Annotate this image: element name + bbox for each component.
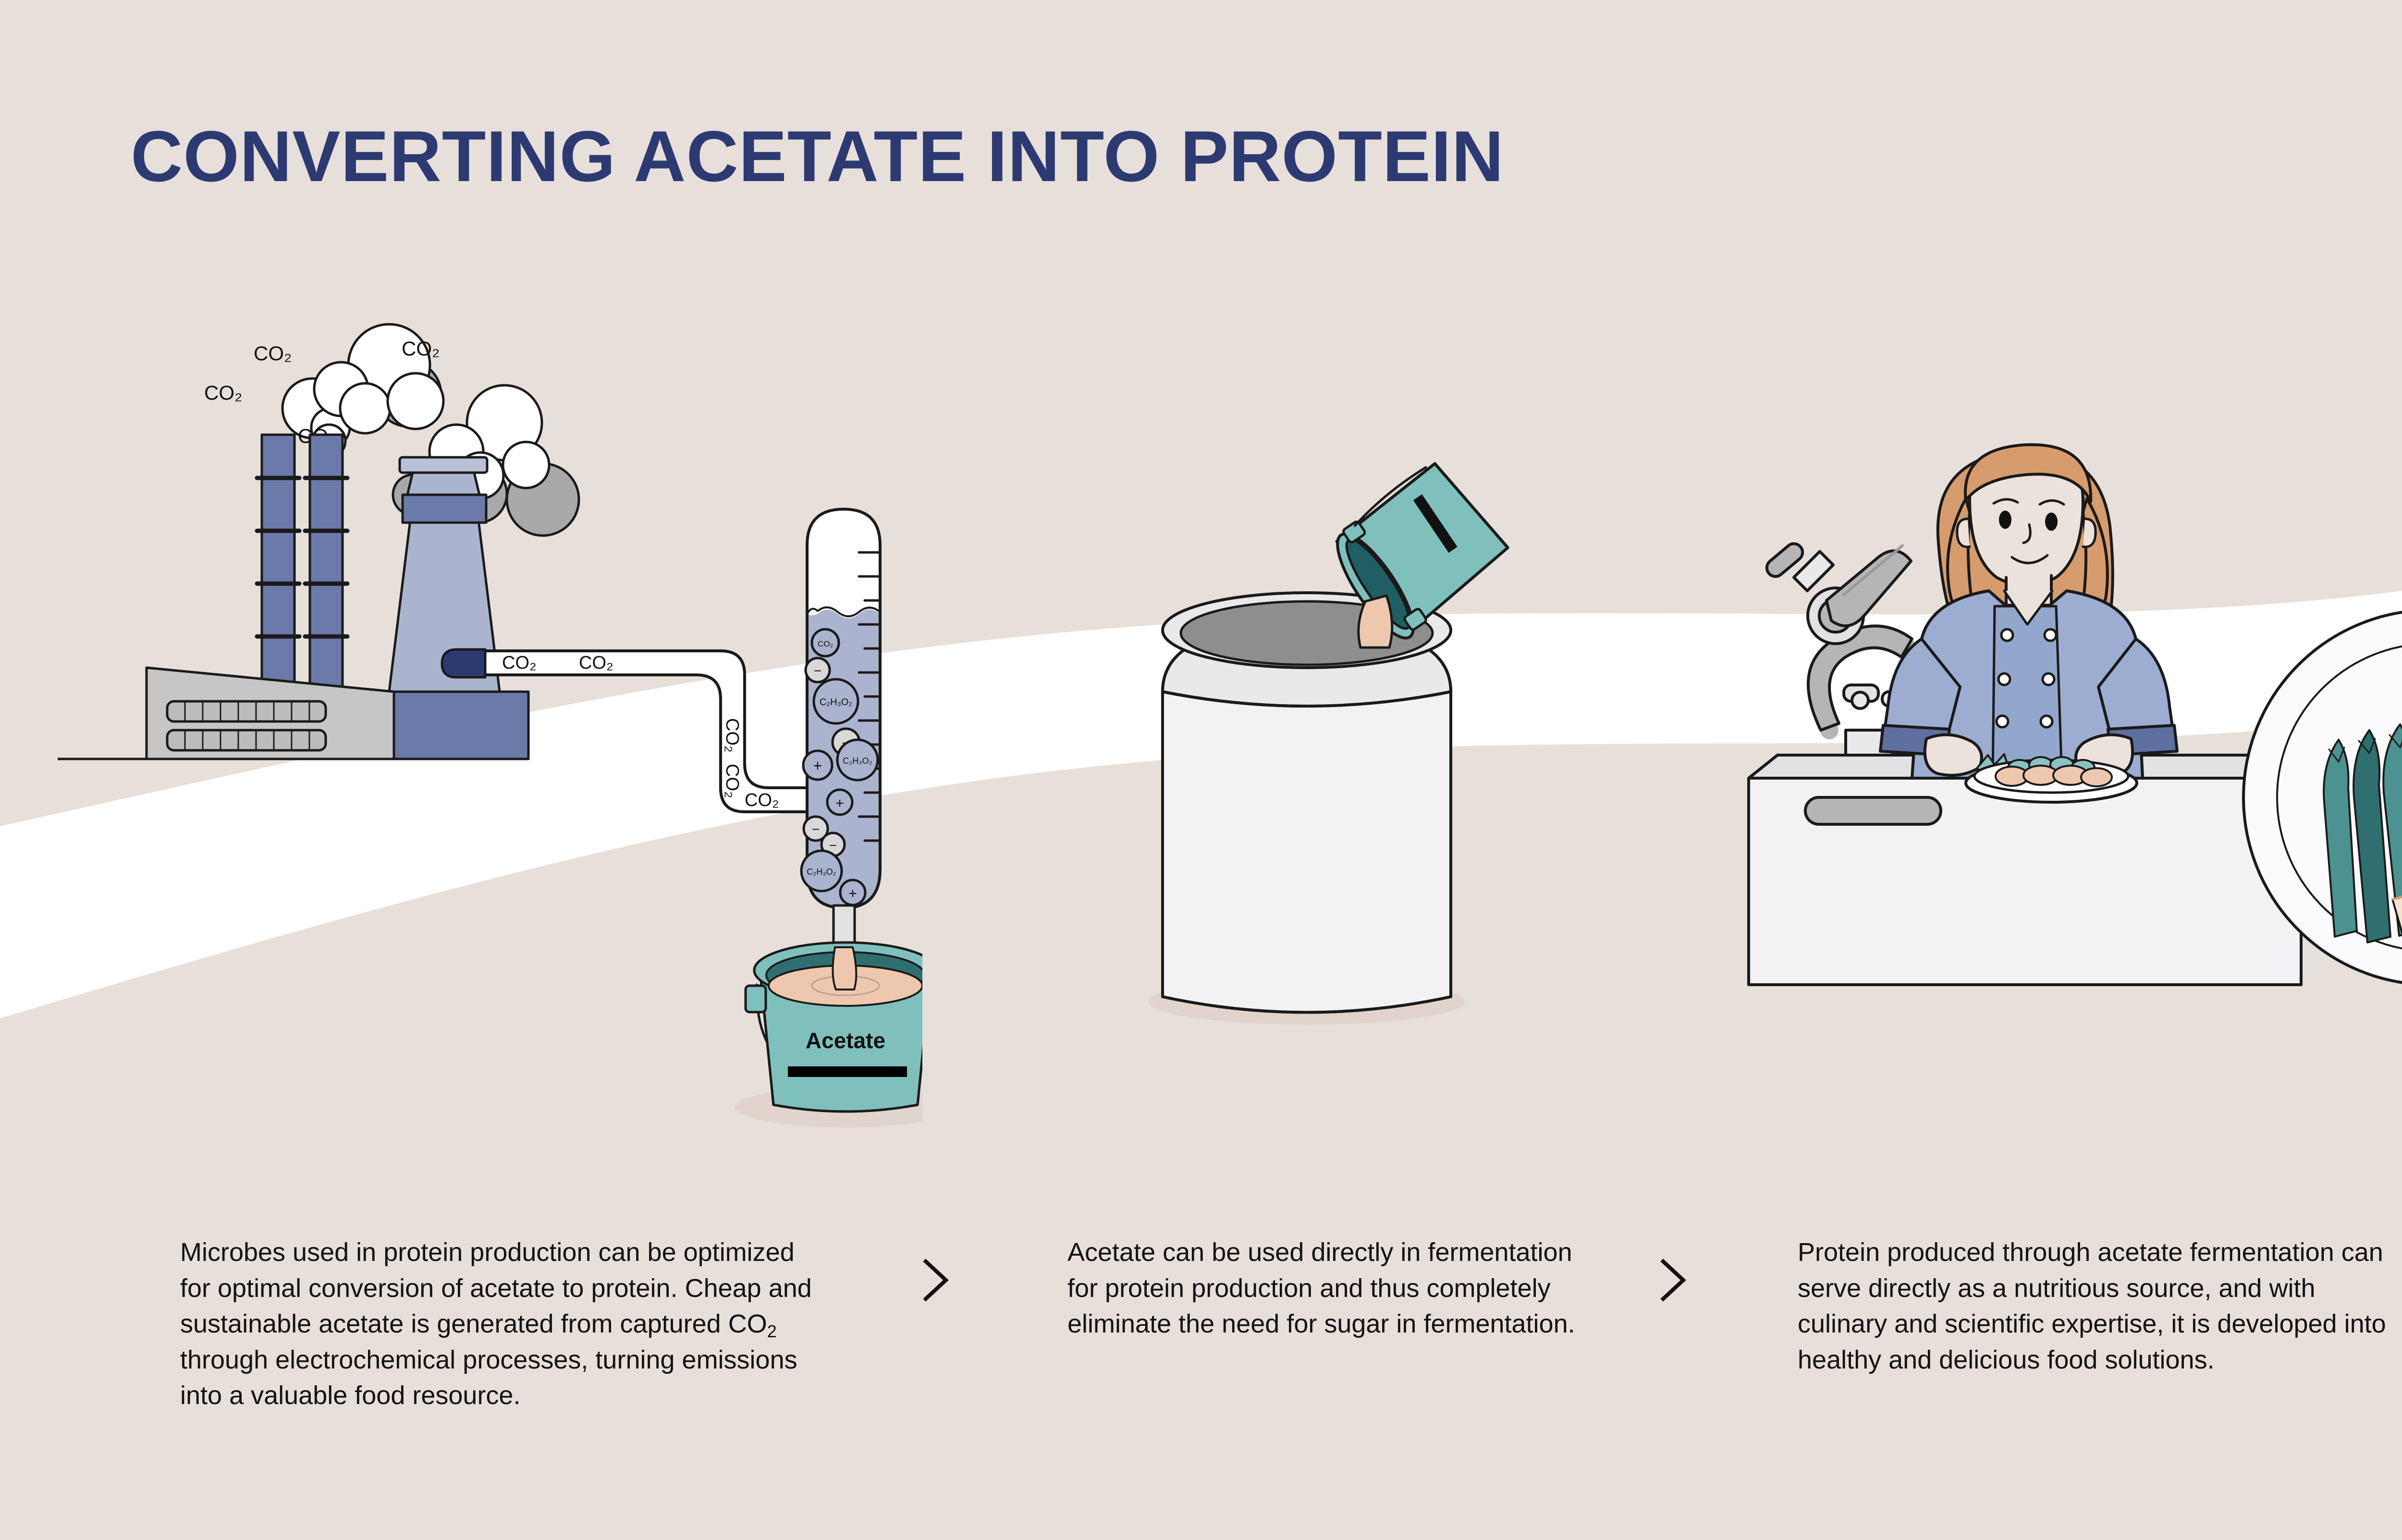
caption-row: Microbes used in protein production can … <box>0 1234 2402 1484</box>
chevron-right-icon-2 <box>1653 1254 1696 1307</box>
chimney-left <box>257 435 299 704</box>
chevron-right-icon-1 <box>915 1254 958 1307</box>
caption-step-3: Protein produced through acetate ferment… <box>1798 1234 2402 1378</box>
co2-label: CO₂ <box>502 653 537 673</box>
page-title: CONVERTING ACETATE INTO PROTEIN <box>131 120 1504 192</box>
co2-label: CO₂ <box>722 764 742 798</box>
co2-label: CO₂ <box>254 342 292 365</box>
svg-text:−: − <box>814 663 821 678</box>
svg-text:+: + <box>813 757 822 774</box>
chef-illustration <box>1880 445 2177 789</box>
caption-step-1: Microbes used in protein production can … <box>180 1234 814 1414</box>
bubble-acetate: C₂H₃O₂ <box>820 697 852 708</box>
factory-scene: CO₂ CO₂ CO₂ CO₂ <box>58 269 922 1143</box>
svg-text:+: + <box>835 795 844 811</box>
acetate-bucket: Acetate <box>746 942 922 1112</box>
culinary-scene <box>1720 399 2402 1071</box>
fermentation-tank-scene <box>1047 452 1576 1052</box>
co2-label: CO₂ <box>722 718 742 753</box>
co2-pipe <box>485 651 807 812</box>
co2-label: CO₂ <box>579 653 613 673</box>
acetate-bucket-label: Acetate <box>806 1028 885 1053</box>
infographic-stage: CONVERTING ACETATE INTO PROTEIN <box>0 0 2402 1540</box>
co2-label: CO₂ <box>745 790 779 810</box>
co2-label: CO₂ <box>402 337 440 360</box>
bubble-co2: CO₂ <box>818 639 833 648</box>
co2-label: CO₂ <box>204 381 242 404</box>
svg-text:−: − <box>812 822 820 837</box>
factory-building <box>147 668 394 759</box>
bubble-acetate: C₂H₃O₂ <box>843 756 872 766</box>
svg-text:+: + <box>848 886 857 902</box>
electrolyzer-tube: CO₂ − C₂H₃O₂ − + C₂H₃O₂ + − <box>801 509 880 962</box>
caption-step-2: Acetate can be used directly in fermenta… <box>1067 1234 1577 1342</box>
bubble-acetate: C₂H₃O₂ <box>807 867 836 877</box>
svg-text:−: − <box>829 838 837 853</box>
